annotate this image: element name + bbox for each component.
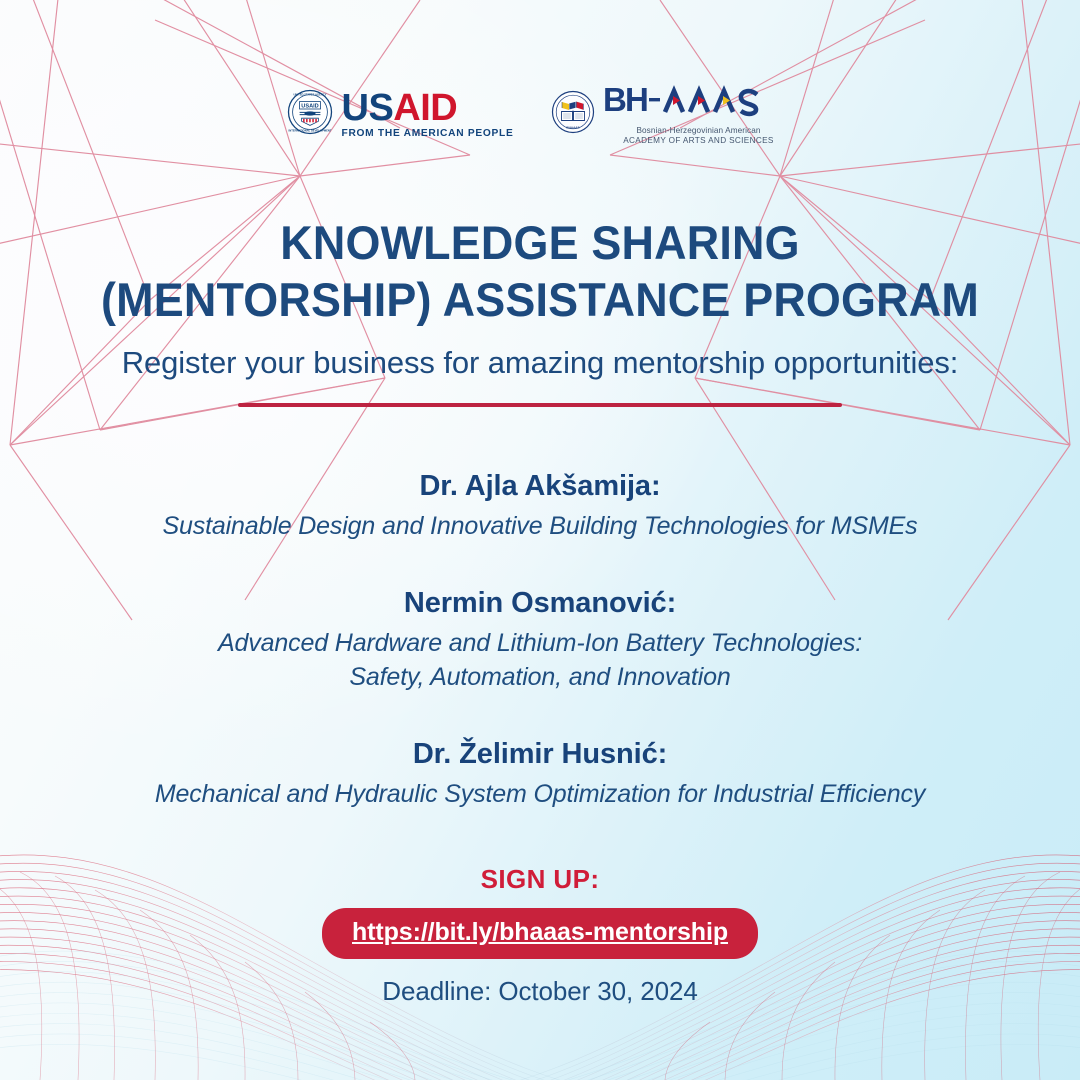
usaid-word-aid: AID xyxy=(393,87,457,129)
headline-line2: (MENTORSHIP) ASSISTANCE PROGRAM xyxy=(24,271,1055,328)
svg-text:H: H xyxy=(625,84,649,118)
svg-text:USAID: USAID xyxy=(301,103,318,109)
signup-block: SIGN UP: https://bit.ly/bhaaas-mentorshi… xyxy=(0,864,1080,1007)
svg-text:UNITED STATES AGENCY: UNITED STATES AGENCY xyxy=(293,92,326,96)
usaid-tagline: FROM THE AMERICAN PEOPLE xyxy=(342,129,514,139)
mentor-description: Sustainable Design and Innovative Buildi… xyxy=(0,510,1080,543)
usaid-wordmark: USAID xyxy=(342,89,514,127)
svg-text:B: B xyxy=(603,84,627,118)
mentor-entry: Nermin Osmanović: Advanced Hardware and … xyxy=(0,587,1080,694)
headline-line1: KNOWLEDGE SHARING xyxy=(24,214,1055,271)
mentor-name: Dr. Želimir Husnić: xyxy=(0,738,1080,771)
svg-text:INTERNATIONAL DEVELOPMENT: INTERNATIONAL DEVELOPMENT xyxy=(288,129,331,133)
mentor-description-line2: Safety, Automation, and Innovation xyxy=(0,661,1080,694)
mentor-description: Mechanical and Hydraulic System Optimiza… xyxy=(0,778,1080,811)
bhaaas-wordmark: B H xyxy=(603,84,793,124)
mentor-name: Dr. Ajla Akšamija: xyxy=(0,470,1080,503)
svg-text:BHAAAS: BHAAAS xyxy=(567,125,580,129)
usaid-logo: USAID UNITED STATES AGENCY INTERNATIONAL… xyxy=(287,89,514,140)
headline-subtitle: Register your business for amazing mento… xyxy=(0,345,1080,381)
signup-label: SIGN UP: xyxy=(0,864,1080,895)
bhaaas-subtitle-line2: ACADEMY OF ARTS AND SCIENCES xyxy=(603,137,793,145)
mentor-entry: Dr. Ajla Akšamija: Sustainable Design an… xyxy=(0,470,1080,543)
bhaaas-wordmark-glyphs: B H xyxy=(603,84,793,118)
deadline-text: Deadline: October 30, 2024 xyxy=(0,976,1080,1007)
title-block: KNOWLEDGE SHARING (MENTORSHIP) ASSISTANC… xyxy=(0,214,1080,407)
red-divider xyxy=(238,403,842,407)
logo-row: USAID UNITED STATES AGENCY INTERNATIONAL… xyxy=(0,84,1080,145)
mentor-entry: Dr. Želimir Husnić: Mechanical and Hydra… xyxy=(0,738,1080,811)
mentor-list: Dr. Ajla Akšamija: Sustainable Design an… xyxy=(0,470,1080,811)
bhaaas-seal-icon: BHAAAS xyxy=(551,90,595,139)
mentor-name: Nermin Osmanović: xyxy=(0,587,1080,620)
usaid-word-us: US xyxy=(342,87,394,129)
bhaaas-logo: BHAAAS B H xyxy=(551,84,793,145)
usaid-seal-icon: USAID UNITED STATES AGENCY INTERNATIONAL… xyxy=(287,89,333,140)
bhaaas-subtitle-line1: Bosnian-Herzegovinian American xyxy=(603,127,793,135)
mentor-description-line1: Advanced Hardware and Lithium-Ion Batter… xyxy=(0,627,1080,660)
poster-canvas: USAID UNITED STATES AGENCY INTERNATIONAL… xyxy=(0,0,1080,1080)
signup-url-button[interactable]: https://bit.ly/bhaaas-mentorship xyxy=(322,908,758,959)
